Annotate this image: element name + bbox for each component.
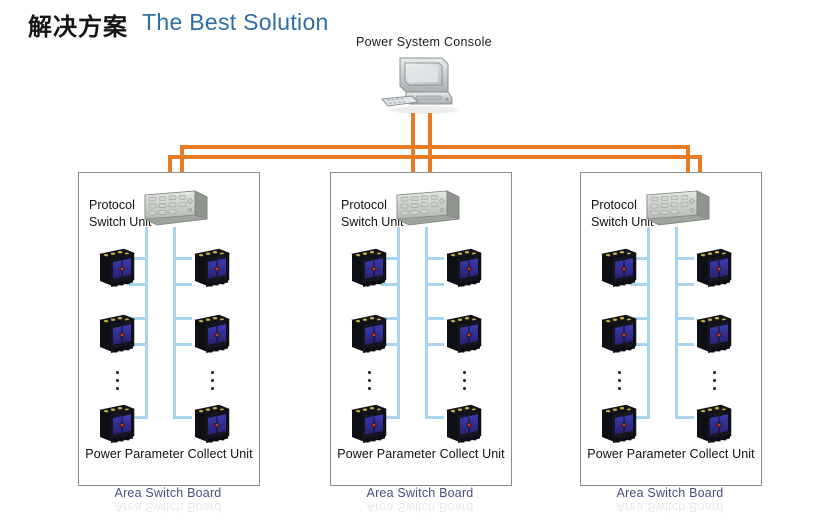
power-parameter-collect-unit-icon[interactable] xyxy=(192,245,232,289)
power-parameter-collect-unit-icon[interactable] xyxy=(599,245,639,289)
area-switch-board-panel[interactable]: Protocol Switch Unit xyxy=(78,172,260,486)
caption-text: Area Switch Board xyxy=(367,486,474,500)
link-vertical-left xyxy=(647,227,650,419)
link-stub-r4 xyxy=(173,343,192,346)
link-vertical-right xyxy=(173,227,176,419)
power-parameter-collect-unit-icon[interactable] xyxy=(349,245,389,289)
ellipsis-left xyxy=(365,371,373,395)
link-stub-r1 xyxy=(675,257,694,260)
power-parameter-collect-unit-icon[interactable] xyxy=(599,401,639,445)
link-stub-r2 xyxy=(173,283,192,286)
area-switch-board-caption: Area Switch Board Area Switch Board xyxy=(330,486,510,514)
link-stub-r5 xyxy=(675,416,694,419)
power-parameter-collect-unit-icon[interactable] xyxy=(694,401,734,445)
caption-text: Area Switch Board xyxy=(617,486,724,500)
collect-unit-label: Power Parameter Collect Unit xyxy=(79,447,259,461)
console-label: Power System Console xyxy=(356,35,492,49)
power-parameter-collect-unit-icon[interactable] xyxy=(599,311,639,355)
link-stub-r2 xyxy=(675,283,694,286)
power-parameter-collect-unit-icon[interactable] xyxy=(694,245,734,289)
link-stub-r4 xyxy=(675,343,694,346)
page-title-chinese: 解决方案 xyxy=(28,7,128,42)
caption-text: Area Switch Board xyxy=(115,486,222,500)
link-stub-r5 xyxy=(173,416,192,419)
power-parameter-collect-unit-icon[interactable] xyxy=(349,401,389,445)
collect-unit-label: Power Parameter Collect Unit xyxy=(331,447,511,461)
area-switch-board-caption: Area Switch Board Area Switch Board xyxy=(78,486,258,514)
desktop-computer-icon xyxy=(372,52,472,118)
protocol-switch-unit-icon xyxy=(641,185,713,231)
power-parameter-collect-unit-icon[interactable] xyxy=(444,245,484,289)
link-stub-r1 xyxy=(425,257,444,260)
psu-label-line1: Protocol xyxy=(591,198,637,212)
link-stub-r2 xyxy=(425,283,444,286)
ellipsis-right xyxy=(208,371,216,395)
power-parameter-collect-unit-icon[interactable] xyxy=(444,401,484,445)
diagram-canvas: 解决方案 The Best Solution Power System Cons… xyxy=(0,0,830,524)
link-vertical-left xyxy=(397,227,400,419)
collect-unit-label: Power Parameter Collect Unit xyxy=(581,447,761,461)
power-parameter-collect-unit-icon[interactable] xyxy=(444,311,484,355)
bus-drop-panel3-a xyxy=(686,145,690,173)
power-parameter-collect-unit-icon[interactable] xyxy=(192,401,232,445)
power-parameter-collect-unit-icon[interactable] xyxy=(97,401,137,445)
power-parameter-collect-unit-icon[interactable] xyxy=(192,311,232,355)
link-stub-r1 xyxy=(173,257,192,260)
power-parameter-collect-unit-icon[interactable] xyxy=(97,311,137,355)
bus-drop-console-right xyxy=(428,113,432,173)
ellipsis-right xyxy=(460,371,468,395)
area-switch-board-caption: Area Switch Board Area Switch Board xyxy=(580,486,760,514)
bus-drop-panel1-a xyxy=(168,155,172,173)
protocol-switch-unit-icon xyxy=(391,185,463,231)
caption-reflection: Area Switch Board xyxy=(580,500,760,514)
power-parameter-collect-unit-icon[interactable] xyxy=(349,311,389,355)
caption-reflection: Area Switch Board xyxy=(78,500,258,514)
link-vertical-right xyxy=(425,227,428,419)
link-stub-r3 xyxy=(675,317,694,320)
link-stub-r3 xyxy=(173,317,192,320)
link-stub-r5 xyxy=(425,416,444,419)
protocol-switch-unit-icon xyxy=(139,185,211,231)
power-parameter-collect-unit-icon[interactable] xyxy=(694,311,734,355)
psu-label-line1: Protocol xyxy=(89,198,135,212)
bus-drop-console-left xyxy=(411,113,415,173)
bus-trunk-lower xyxy=(168,155,702,159)
bus-trunk-upper xyxy=(180,145,690,149)
bus-drop-panel1-b xyxy=(180,145,184,173)
link-vertical-left xyxy=(145,227,148,419)
link-vertical-right xyxy=(675,227,678,419)
link-stub-r3 xyxy=(425,317,444,320)
area-switch-board-panel[interactable]: Protocol Switch Unit xyxy=(330,172,512,486)
page-title-english: The Best Solution xyxy=(142,9,329,36)
ellipsis-left xyxy=(615,371,623,395)
ellipsis-left xyxy=(113,371,121,395)
bus-drop-panel3-b xyxy=(698,155,702,173)
power-parameter-collect-unit-icon[interactable] xyxy=(97,245,137,289)
ellipsis-right xyxy=(710,371,718,395)
psu-label-line1: Protocol xyxy=(341,198,387,212)
area-switch-board-panel[interactable]: Protocol Switch Unit xyxy=(580,172,762,486)
link-stub-r4 xyxy=(425,343,444,346)
caption-reflection: Area Switch Board xyxy=(330,500,510,514)
